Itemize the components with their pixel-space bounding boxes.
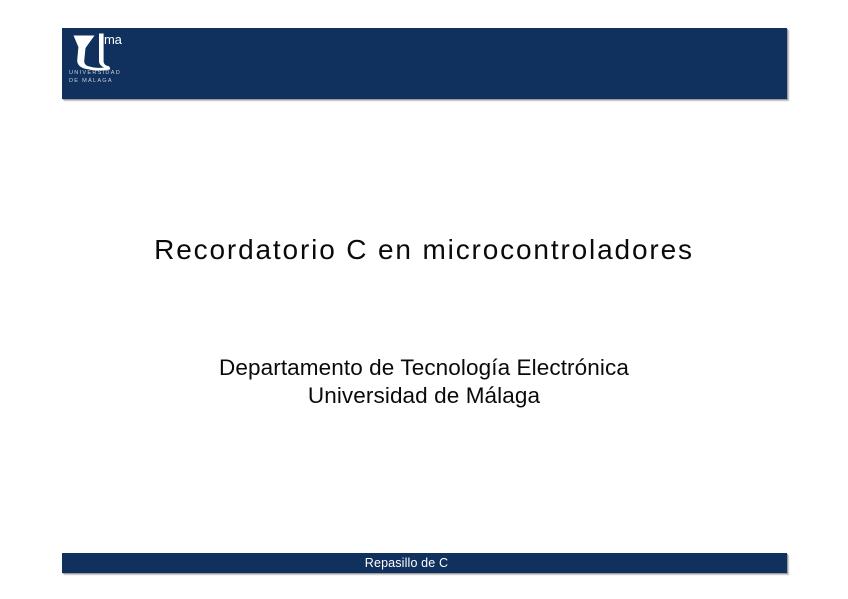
presentation-slide: ma UNIVERSIDAD DE MÁLAGA Recordatorio C … bbox=[0, 0, 848, 599]
title-block: Recordatorio C en microcontroladores bbox=[0, 214, 848, 286]
uma-institution-line-2: DE MÁLAGA bbox=[69, 77, 121, 85]
slide-title: Recordatorio C en microcontroladores bbox=[154, 233, 694, 267]
uma-logo-mark-icon bbox=[68, 31, 132, 71]
uma-wordmark: ma bbox=[104, 33, 122, 46]
subtitle-block: Departamento de Tecnología Electrónica U… bbox=[0, 354, 848, 410]
uma-institution-line-1: UNIVERSIDAD bbox=[69, 69, 121, 77]
header-banner: ma UNIVERSIDAD DE MÁLAGA bbox=[62, 28, 787, 99]
footer-text: Repasillo de C bbox=[365, 556, 448, 570]
subtitle-line-department: Departamento de Tecnología Electrónica bbox=[0, 354, 848, 382]
subtitle-line-university: Universidad de Málaga bbox=[0, 382, 848, 410]
footer-bar: Repasillo de C bbox=[62, 553, 787, 573]
uma-institution-text: UNIVERSIDAD DE MÁLAGA bbox=[69, 69, 121, 86]
uma-logo: ma UNIVERSIDAD DE MÁLAGA bbox=[68, 31, 188, 95]
